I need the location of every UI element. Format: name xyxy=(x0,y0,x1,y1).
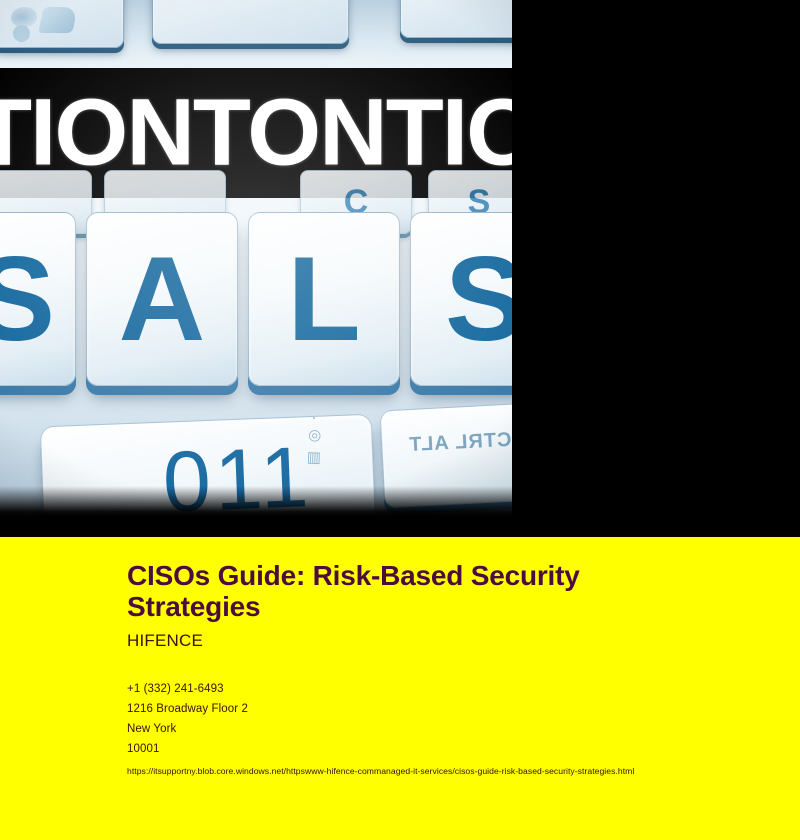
page-title: CISOs Guide: Risk-Based Security Strateg… xyxy=(127,560,657,622)
brand-name: HIFENCE xyxy=(127,631,782,651)
keyboard-key-letter: S xyxy=(410,212,512,386)
hero-keyboard-image: TIONTONTION C S S A L S 011 ▤ ◎ · CTRL A… xyxy=(0,0,512,516)
contact-address-line1: 1216 Broadway Floor 2 xyxy=(127,699,782,719)
contact-phone[interactable]: +1 (332) 241-6493 xyxy=(127,679,782,699)
keyboard-key-letter: A xyxy=(86,212,238,386)
contact-postal-code: 10001 xyxy=(127,739,782,759)
keyboard-key-letter: S xyxy=(0,212,76,386)
keyboard-modifier-key-label: CTRL ALT xyxy=(408,429,512,457)
keyboard-key xyxy=(0,0,124,48)
contact-block: +1 (332) 241-6493 1216 Broadway Floor 2 … xyxy=(127,679,782,778)
key-symbol-icon xyxy=(13,25,30,42)
keyboard-key-letter: L xyxy=(248,212,400,386)
page-root: { "theme": { "panel_background": "#FFFF0… xyxy=(0,0,800,840)
content-panel: CISOs Guide: Risk-Based Security Strateg… xyxy=(0,537,800,840)
content-inner: CISOs Guide: Risk-Based Security Strateg… xyxy=(127,560,782,778)
keyboard-top-row xyxy=(0,0,512,72)
keyboard-key xyxy=(400,0,512,38)
contact-city: New York xyxy=(127,719,782,739)
hero-band: TIONTONTION C S S A L S 011 ▤ ◎ · CTRL A… xyxy=(0,0,800,537)
key-symbol-icon xyxy=(38,7,78,33)
keyboard-function-icon: ▤ ◎ · xyxy=(304,439,367,467)
hero-banner-text: TIONTONTION xyxy=(0,86,512,181)
keyboard-letter-row: S A L S xyxy=(0,196,512,396)
photo-bottom-fade xyxy=(0,486,512,516)
source-url-link[interactable]: https://itsupportny.blob.core.windows.ne… xyxy=(127,765,782,778)
keyboard-key xyxy=(152,0,349,44)
